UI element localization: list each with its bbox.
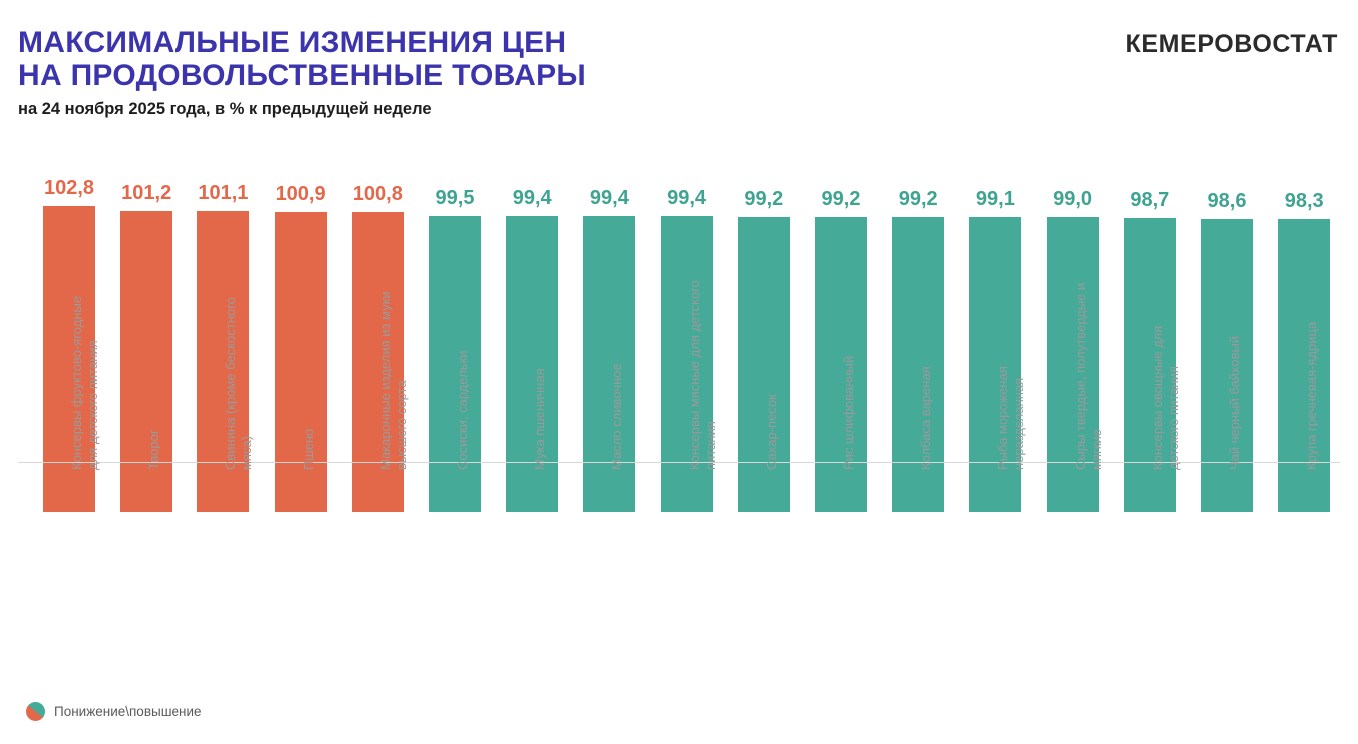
category-label-text: Колбаса вареная: [918, 275, 934, 470]
chart-legend: Понижение\повышение: [26, 702, 202, 721]
bar-value-label: 100,8: [352, 183, 404, 206]
category-label-text: Сыры твердые, полутвердые и мягкие: [1073, 275, 1105, 470]
category-label-text: Рыба мороженая неразделанная: [995, 275, 1027, 470]
category-label-text: Творог: [146, 275, 162, 470]
category-label-text: Чай черный байховый: [1227, 275, 1243, 470]
page-title-line-2: НА ПРОДОВОЛЬСТВЕННЫЕ ТОВАРЫ: [18, 59, 586, 92]
category-label: Крупа гречневая-ядрица: [1278, 470, 1330, 670]
category-label-text: Рис шлифованный: [841, 275, 857, 470]
category-label-text: Сосиски, сардельки: [455, 275, 471, 470]
bar-value-label: 98,6: [1201, 190, 1253, 213]
legend-label: Понижение\повышение: [54, 704, 202, 719]
category-label: Масло сливочное: [583, 470, 635, 670]
bar-value-label: 99,2: [738, 188, 790, 211]
category-label: Консервы мясные для детского питания: [661, 470, 713, 670]
category-label-text: Сахар-песок: [764, 275, 780, 470]
category-label: Сыры твердые, полутвердые и мягкие: [1047, 470, 1099, 670]
bar-value-label: 99,5: [429, 187, 481, 210]
brand-logo-text: КЕМЕРОВОСТАТ: [1125, 30, 1338, 59]
category-label: Рыба мороженая неразделанная: [969, 470, 1021, 670]
category-label-text: Крупа гречневая-ядрица: [1304, 275, 1320, 470]
category-label-text: Масло сливочное: [609, 275, 625, 470]
bar-value-label: 101,1: [197, 182, 249, 205]
category-label: Сахар-песок: [738, 470, 790, 670]
bar-chart: 102,8101,2101,1100,9100,899,599,499,499,…: [0, 150, 1358, 680]
category-label: Свинина (кроме бескостного мяса): [197, 470, 249, 670]
bar-value-label: 98,3: [1278, 190, 1330, 213]
bar-value-label: 101,2: [120, 182, 172, 205]
page-subtitle: на 24 ноября 2025 года, в % к предыдущей…: [18, 100, 586, 119]
category-label-text: Консервы овощные для детского питания: [1150, 275, 1182, 470]
category-label: Макаронные изделия из муки высшего сорта: [352, 470, 404, 670]
category-label-text: Мука пшеничная: [532, 275, 548, 470]
category-label: Рис шлифованный: [815, 470, 867, 670]
category-label: Мука пшеничная: [506, 470, 558, 670]
bar-value-label: 98,7: [1124, 189, 1176, 212]
category-label: Сосиски, сардельки: [429, 470, 481, 670]
bar-value-label: 99,4: [661, 187, 713, 210]
bar-value-label: 99,1: [969, 188, 1021, 211]
category-label: Колбаса вареная: [892, 470, 944, 670]
bar-value-label: 99,2: [892, 188, 944, 211]
bar-value-label: 99,2: [815, 188, 867, 211]
bar-value-label: 99,4: [506, 187, 558, 210]
plot-area: 102,8101,2101,1100,9100,899,599,499,499,…: [18, 190, 1340, 512]
bar-value-label: 102,8: [43, 177, 95, 200]
category-label-text: Консервы мясные для детского питания: [687, 275, 719, 470]
bar-value-label: 99,0: [1047, 188, 1099, 211]
bar-value-label: 99,4: [583, 187, 635, 210]
category-label-text: Свинина (кроме бескостного мяса): [223, 275, 255, 470]
bar-value-label: 100,9: [275, 183, 327, 206]
x-axis-line: [18, 462, 1340, 463]
page-header: МАКСИМАЛЬНЫЕ ИЗМЕНЕНИЯ ЦЕН НА ПРОДОВОЛЬС…: [0, 0, 1358, 150]
category-label-text: Пшено: [301, 275, 317, 470]
title-block: МАКСИМАЛЬНЫЕ ИЗМЕНЕНИЯ ЦЕН НА ПРОДОВОЛЬС…: [18, 26, 586, 119]
page-title-line-1: МАКСИМАЛЬНЫЕ ИЗМЕНЕНИЯ ЦЕН: [18, 26, 586, 59]
category-label-text: Макаронные изделия из муки высшего сорта: [378, 275, 410, 470]
category-label: Творог: [120, 470, 172, 670]
legend-swatch-icon: [26, 702, 45, 721]
category-label: Пшено: [275, 470, 327, 670]
category-label: Консервы фруктово-ягодные для детского п…: [43, 470, 95, 670]
category-label: Консервы овощные для детского питания: [1124, 470, 1176, 670]
category-label: Чай черный байховый: [1201, 470, 1253, 670]
category-label-text: Консервы фруктово-ягодные для детского п…: [69, 275, 101, 470]
